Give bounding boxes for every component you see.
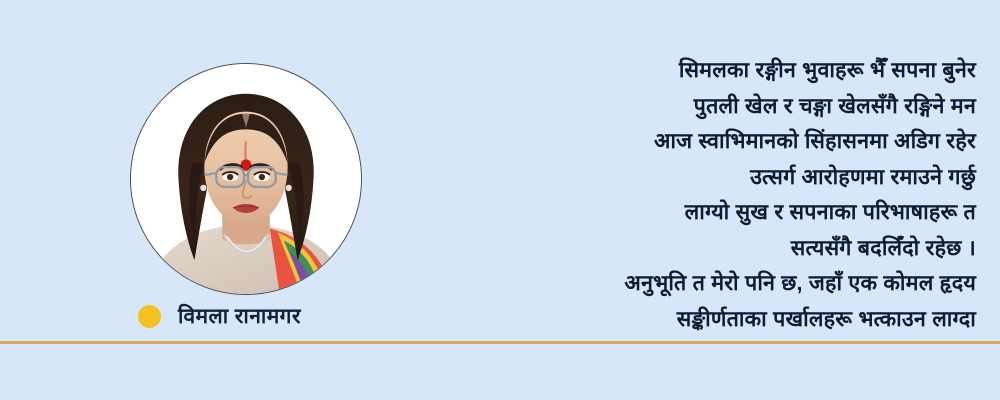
- author-photo: [131, 64, 361, 294]
- portrait-circle-frame: [130, 63, 362, 295]
- poem-line: पुतली खेल र चङ्गा खेलसँगै रङ्गिने मन: [416, 89, 976, 125]
- author-name: विमला रानामगर: [178, 306, 301, 327]
- poem-line: अनुभूति त मेरो पनि छ, जहाँ एक कोमल हृदय: [416, 266, 976, 302]
- poem-card: विमला रानामगर सिमलका रङ्गीन भुवाहरू भैँ …: [0, 0, 1000, 400]
- author-byline: विमला रानामगर: [138, 305, 301, 328]
- poem-line: लाग्यो सुख र सपनाका परिभाषाहरू त: [416, 195, 976, 231]
- poem-line: सिमलका रङ्गीन भुवाहरू भैँ सपना बुनेर: [416, 53, 976, 89]
- horizontal-divider: [0, 341, 1000, 344]
- poem-line: उत्सर्ग आरोहणमा रमाउने गर्छु: [416, 160, 976, 196]
- poem-text-block: सिमलका रङ्गीन भुवाहरू भैँ सपना बुनेर पुत…: [416, 53, 976, 337]
- bullet-point-icon: [138, 305, 161, 328]
- poem-line: सङ्कीर्णताका पर्खालहरू भत्काउन लाग्दा: [416, 302, 976, 338]
- author-portrait: [130, 63, 362, 295]
- poem-line: सत्यसँगै बदलिँदो रहेछ ।: [416, 231, 976, 267]
- poem-line: आज स्वाभिमानको सिंहासनमा अडिग रहेर: [416, 124, 976, 160]
